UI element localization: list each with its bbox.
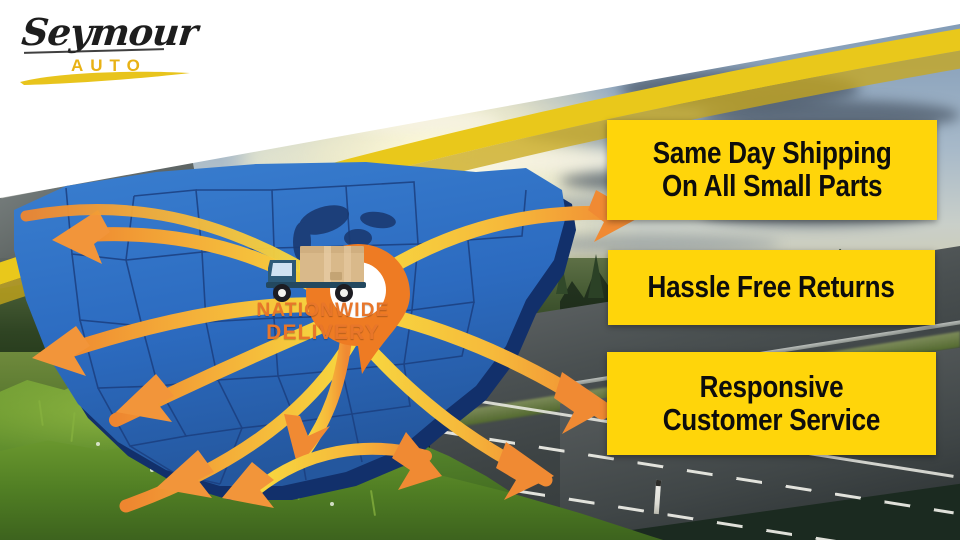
badge-1-line-1: Same Day Shipping [653,137,892,170]
badge-hassle-free-returns[interactable]: Hassle Free Returns [608,250,935,325]
logo-swoosh-icon [18,70,194,86]
badge-1-line-2: On All Small Parts [662,170,882,203]
box-label [330,272,342,280]
nationwide-delivery-caption: NATIONWIDE DELIVERY [248,300,398,345]
truck-window [271,263,292,276]
arrow-head [554,372,612,434]
badge-3-line-1: Responsive [700,371,844,404]
brand-name: Seymour [20,10,200,54]
badge-2-line-1: Hassle Free Returns [648,271,895,304]
us-map-graphic [6,150,646,540]
badge-same-day-shipping[interactable]: Same Day Shipping On All Small Parts [607,120,937,220]
caption-line-2: DELIVERY [248,321,398,345]
caption-line-1: NATIONWIDE [248,300,398,321]
badge-3-line-2: Customer Service [663,404,880,437]
brand-logo[interactable]: Seymour AUTO [14,8,214,92]
badge-responsive-customer-service[interactable]: Responsive Customer Service [607,352,936,455]
arrow-head [496,442,554,500]
promo-banner: Seymour AUTO [0,0,960,540]
